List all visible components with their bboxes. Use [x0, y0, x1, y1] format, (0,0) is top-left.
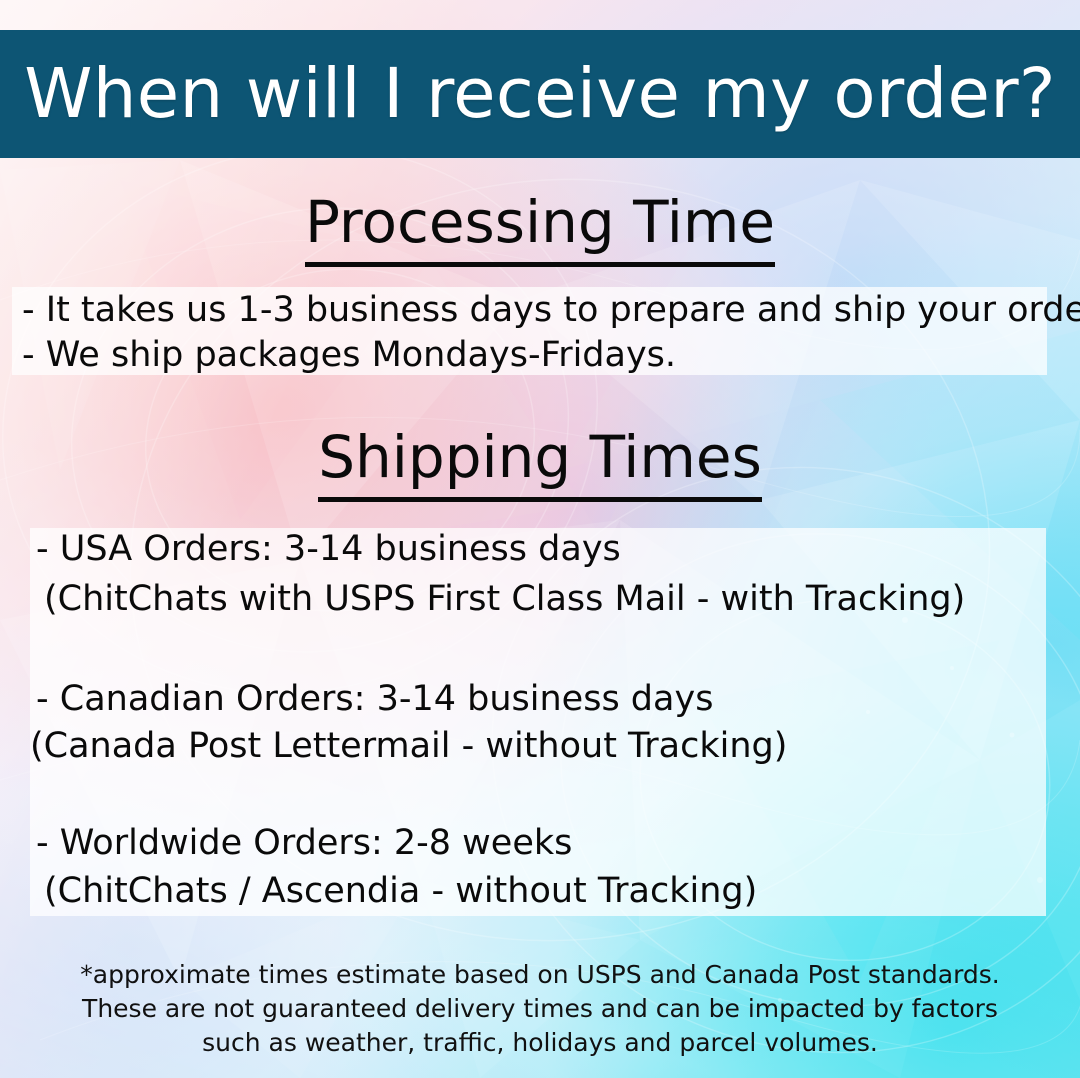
section-heading-shipping-times-label: Shipping Times	[318, 423, 762, 502]
footnote-line-3: such as weather, traffic, holidays and p…	[0, 1026, 1080, 1060]
shipping-worldwide-carrier-line: (ChitChats / Ascendia - without Tracking…	[44, 874, 757, 909]
shipping-worldwide-orders-line: - Worldwide Orders: 2-8 weeks	[36, 826, 572, 861]
section-heading-processing-time: Processing Time	[0, 193, 1080, 251]
processing-time-line-1: - It takes us 1-3 business days to prepa…	[22, 293, 1080, 328]
section-heading-processing-time-label: Processing Time	[305, 188, 775, 267]
footnote-line-1: *approximate times estimate based on USP…	[0, 958, 1080, 992]
shipping-canadian-orders-line: - Canadian Orders: 3-14 business days	[36, 682, 713, 717]
section-heading-shipping-times: Shipping Times	[0, 428, 1080, 486]
processing-time-line-2: - We ship packages Mondays-Fridays.	[22, 338, 676, 373]
footnote-line-2: These are not guaranteed delivery times …	[0, 992, 1080, 1026]
footnote-disclaimer: *approximate times estimate based on USP…	[0, 958, 1080, 1060]
header-banner: When will I receive my order?	[0, 30, 1080, 158]
shipping-usa-orders-line: - USA Orders: 3-14 business days	[36, 532, 621, 567]
shipping-usa-carrier-line: (ChitChats with USPS First Class Mail - …	[44, 582, 965, 617]
shipping-canadian-carrier-line: (Canada Post Lettermail - without Tracki…	[30, 729, 787, 764]
page-title: When will I receive my order?	[24, 60, 1056, 129]
shipping-info-poster: When will I receive my order? Processing…	[0, 0, 1080, 1078]
